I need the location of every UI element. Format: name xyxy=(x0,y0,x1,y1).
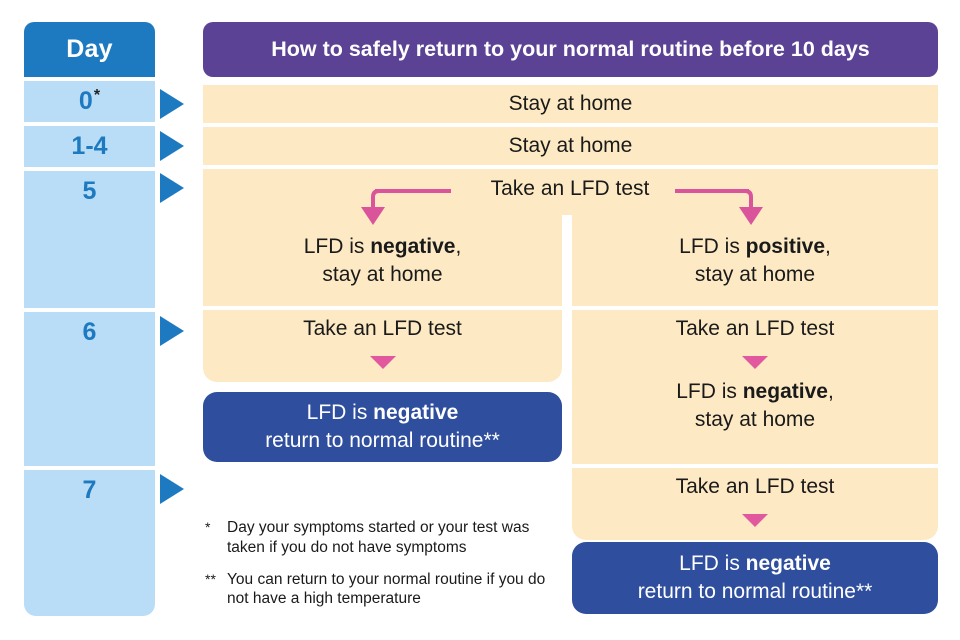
page-title: How to safely return to your normal rout… xyxy=(203,22,938,77)
footnotes: * Day your symptoms started or your test… xyxy=(205,518,560,621)
day5-left-outcome: LFD is negative, stay at home xyxy=(203,215,562,306)
day-cell-5: 5 xyxy=(24,171,155,308)
day6-right-down-arrow-icon xyxy=(742,356,768,369)
day-cell-1-4: 1-4 xyxy=(24,126,155,167)
row-day1-4-content: Stay at home xyxy=(203,127,938,165)
day7-right-result-box: LFD is negative return to normal routine… xyxy=(572,542,938,614)
day-cell-0: 0* xyxy=(24,81,155,122)
day5-branch-connector-icon xyxy=(203,169,938,225)
day-pointer-icon-6 xyxy=(160,316,184,346)
day6-right-outcome-line1: LFD is negative, xyxy=(572,378,938,406)
return-to-routine-infographic: Day 0* 1-4 5 6 7 How to safely return to… xyxy=(0,0,960,640)
day6-left-result-box: LFD is negative return to normal routine… xyxy=(203,392,562,462)
day7-right-result-line1: LFD is negative xyxy=(679,550,831,578)
day-column: Day 0* 1-4 5 6 7 xyxy=(24,22,155,616)
day-pointer-icon-1-4 xyxy=(160,131,184,161)
day5-right-line2: stay at home xyxy=(695,261,815,289)
day6-right-outcome: LFD is negative, stay at home xyxy=(572,378,938,434)
day6-left-down-arrow-icon xyxy=(370,356,396,369)
day6-left-result-line1: LFD is negative xyxy=(307,399,459,427)
footnote-item: * Day your symptoms started or your test… xyxy=(205,518,560,558)
day5-left-line2: stay at home xyxy=(322,261,442,289)
day-cell-7: 7 xyxy=(24,470,155,616)
day5-left-line1: LFD is negative, xyxy=(304,233,462,261)
footnote-text: You can return to your normal routine if… xyxy=(227,570,560,610)
day5-right-line1: LFD is positive, xyxy=(679,233,831,261)
row-day0-content: Stay at home xyxy=(203,85,938,123)
day-cell-6: 6 xyxy=(24,312,155,466)
day5-right-outcome: LFD is positive, stay at home xyxy=(572,215,938,306)
footnote-item: ** You can return to your normal routine… xyxy=(205,570,560,610)
day6-left-result-line2: return to normal routine** xyxy=(265,427,500,455)
day-number: 1-4 xyxy=(71,134,107,167)
day6-left-test-box: Take an LFD test xyxy=(203,310,562,382)
footnote-marker: ** xyxy=(205,570,227,610)
day7-right-result-line2: return to normal routine** xyxy=(638,578,873,606)
day-pointer-icon-7 xyxy=(160,474,184,504)
day-number: 6 xyxy=(83,320,97,466)
day6-right-outcome-line2: stay at home xyxy=(572,406,938,434)
day-pointer-icon-0 xyxy=(160,89,184,119)
footnote-text: Day your symptoms started or your test w… xyxy=(227,518,560,558)
day-footnote-marker: * xyxy=(94,88,100,121)
day-pointer-icon-5 xyxy=(160,173,184,203)
day-number: 0 xyxy=(79,89,93,122)
day-number: 5 xyxy=(83,179,97,308)
main-panel: How to safely return to your normal rout… xyxy=(203,22,938,77)
footnote-marker: * xyxy=(205,518,227,558)
day-number: 7 xyxy=(83,478,97,616)
day6-left-test-label: Take an LFD test xyxy=(203,310,562,341)
day-column-header: Day xyxy=(24,22,155,77)
day6-right-test-label: Take an LFD test xyxy=(572,310,938,341)
day6-right-box: Take an LFD test LFD is negative, stay a… xyxy=(572,310,938,464)
day7-right-test-label: Take an LFD test xyxy=(572,468,938,499)
day7-right-test-box: Take an LFD test xyxy=(572,468,938,540)
day7-right-down-arrow-icon xyxy=(742,514,768,527)
